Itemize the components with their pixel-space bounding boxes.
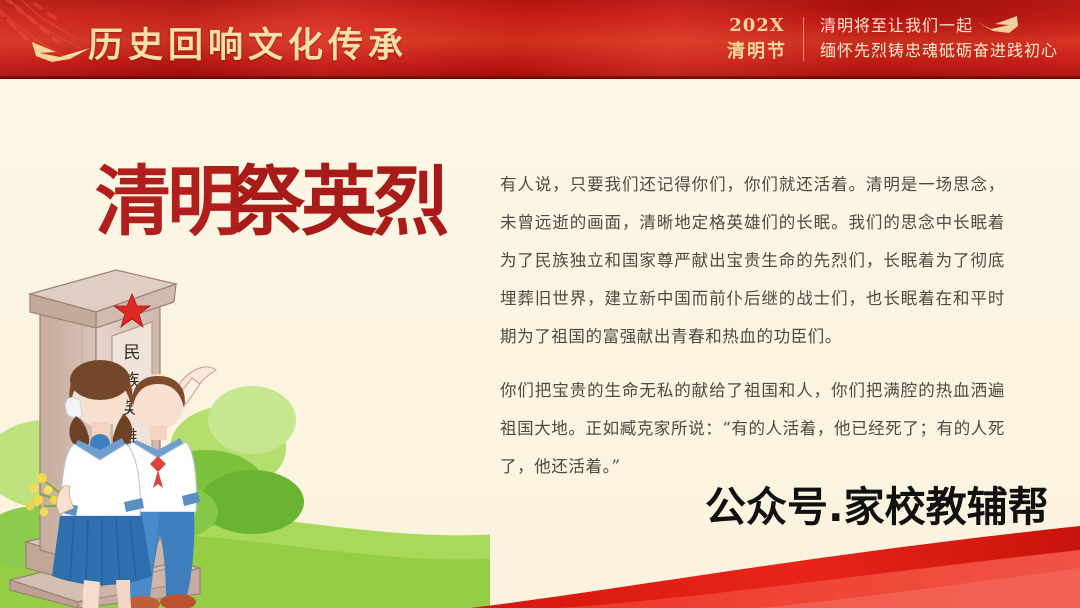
header-right-group: 202X 清明节 清明将至让我们一起 缅怀先烈铸忠魂砥砺奋进践初心 [727,13,1058,65]
body-paragraph-2: 你们把宝贵的生命无私的献给了祖国和人，你们把满腔的热血洒遍祖国大地。正如臧克家所… [500,372,1005,486]
page-title-part1: 清明 [95,157,239,246]
slide-canvas: 历史回响文化传承 202X 清明节 清明将至让我们一起 缅怀先烈铸忠魂砥砺奋进践… [0,0,1080,608]
header-banner: 历史回响文化传承 202X 清明节 清明将至让我们一起 缅怀先烈铸忠魂砥砺奋进践… [0,0,1080,79]
swallow-bird-icon [30,38,92,64]
header-year-block: 202X 清明节 [727,13,787,65]
page-title: 清明祭英烈 [95,140,445,250]
header-slogan-line1: 清明将至让我们一起 [820,14,1058,39]
header-divider [803,17,804,61]
page-title-part2: 祭英烈 [229,157,445,246]
header-festival: 清明节 [727,39,787,65]
header-year: 202X [727,13,787,39]
article-body: 有人说，只要我们还记得你们，你们就还活着。清明是一场思念，未曾远逝的画面，清晰地… [500,166,1005,486]
header-slogan: 清明将至让我们一起 缅怀先烈铸忠魂砥砺奋进践初心 [820,14,1058,64]
watermark-text: 公众号.家校教辅帮 [705,487,1049,528]
header-title: 历史回响文化传承 [88,17,408,68]
body-paragraph-1: 有人说，只要我们还记得你们，你们就还活着。清明是一场思念，未曾远逝的画面，清晰地… [500,166,1005,356]
header-slogan-line2: 缅怀先烈铸忠魂砥砺奋进践初心 [820,39,1058,64]
svg-text:民: 民 [124,343,141,363]
